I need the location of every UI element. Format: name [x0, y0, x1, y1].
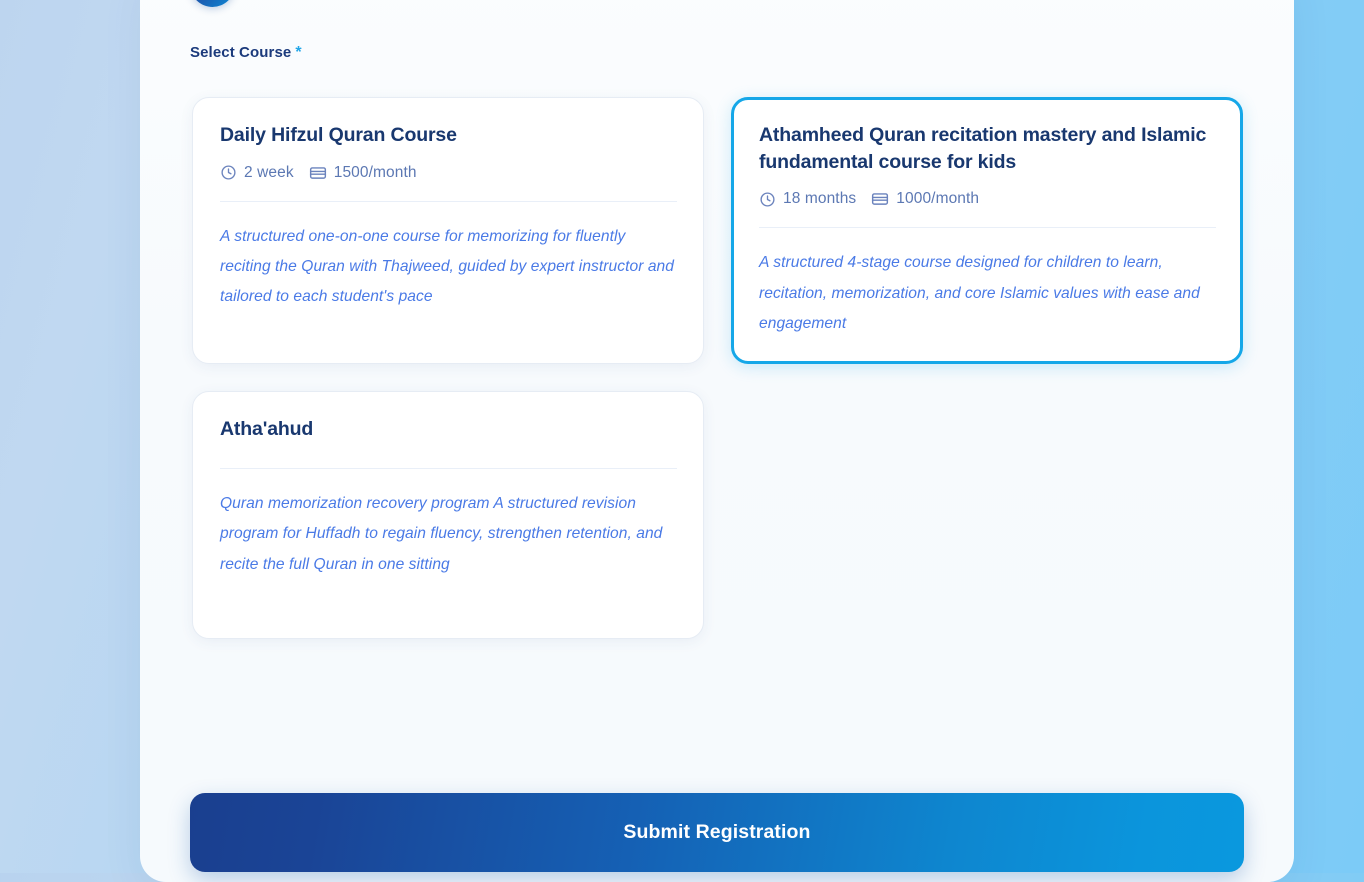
section-header: 3 Academic Information [190, 0, 490, 7]
step-number-badge: 3 [190, 0, 235, 7]
course-price-text: 1500/month [334, 164, 417, 182]
credit-card-icon [871, 190, 889, 208]
course-price-text: 1000/month [896, 190, 979, 208]
clock-icon [220, 164, 237, 181]
course-price: 1000/month [871, 190, 979, 208]
course-title: Atha'ahud [220, 416, 677, 443]
course-card-athaahud[interactable]: Atha'ahud Quran memorization recovery pr… [192, 391, 704, 639]
clock-icon [759, 191, 776, 208]
select-course-label-text: Select Course [190, 44, 291, 61]
course-title: Daily Hifzul Quran Course [220, 122, 677, 149]
course-description: A structured 4-stage course designed for… [759, 248, 1216, 338]
card-divider [220, 201, 677, 202]
course-meta: 2 week 1500/month [220, 164, 677, 182]
course-price: 1500/month [309, 164, 417, 182]
course-meta: 18 months 1000/month [759, 190, 1216, 208]
course-duration: 18 months [759, 190, 856, 208]
course-duration: 2 week [220, 164, 294, 182]
registration-form-panel: 3 Academic Information Select Course* Da… [140, 0, 1294, 882]
course-title: Athamheed Quran recitation mastery and I… [759, 122, 1216, 175]
select-course-label: Select Course* [190, 44, 302, 62]
course-description: A structured one-on-one course for memor… [220, 222, 677, 312]
credit-card-icon [309, 164, 327, 182]
submit-button-container: Submit Registration [190, 793, 1244, 872]
card-divider [759, 227, 1216, 228]
submit-registration-button[interactable]: Submit Registration [190, 793, 1244, 872]
course-card-athamheed-quran-recitation[interactable]: Athamheed Quran recitation mastery and I… [731, 97, 1243, 364]
course-duration-text: 18 months [783, 190, 856, 208]
course-duration-text: 2 week [244, 164, 294, 182]
course-card-daily-hifzul-quran[interactable]: Daily Hifzul Quran Course 2 week [192, 97, 704, 364]
course-description: Quran memorization recovery program A st… [220, 489, 677, 579]
course-options-grid: Daily Hifzul Quran Course 2 week [192, 97, 1244, 639]
card-divider [220, 468, 677, 469]
required-asterisk: * [295, 44, 301, 61]
